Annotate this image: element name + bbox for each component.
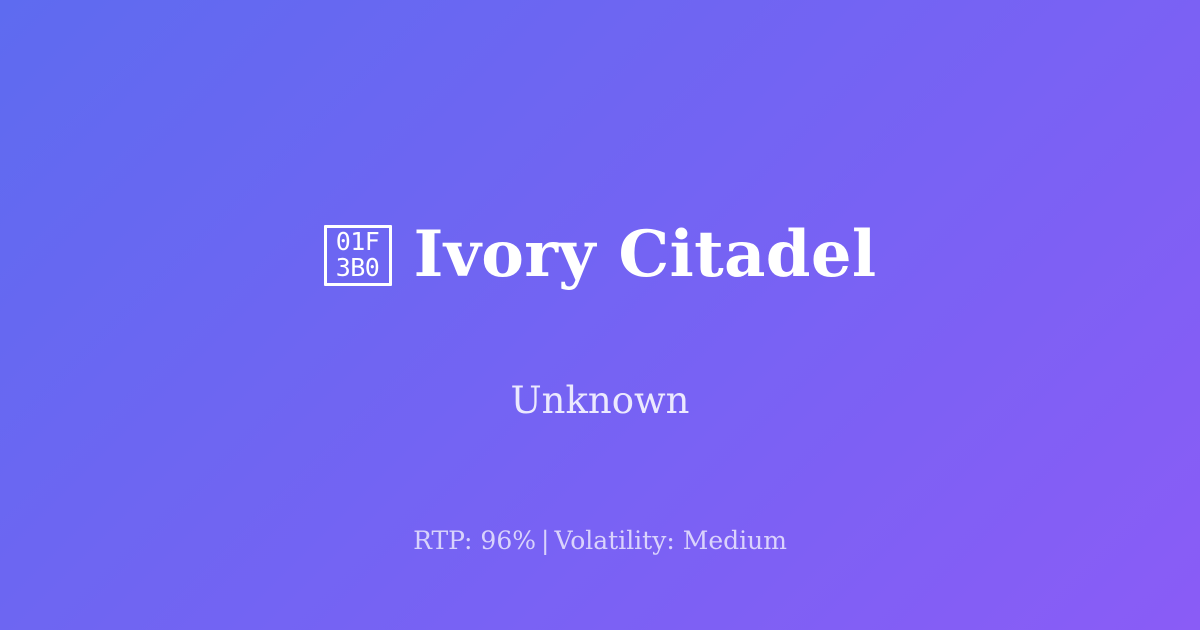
stat-separator: | [536,526,554,555]
game-og-card: 01F 3B0 Ivory Citadel Unknown RTP: 96%|V… [0,0,1200,630]
hero-row: 01F 3B0 Ivory Citadel [324,173,877,337]
tofu-codepoint-bottom: 3B0 [336,255,380,281]
slot-machine-emoji-icon: 01F 3B0 [324,225,392,286]
volatility-stat: Volatility: Medium [554,526,786,555]
rtp-stat: RTP: 96% [413,526,536,555]
tofu-codepoint-top: 01F [336,229,380,255]
provider-subtitle: Unknown [510,379,689,423]
page-title: Ivory Citadel [414,216,877,294]
stats-footer: RTP: 96%|Volatility: Medium [0,526,1200,556]
